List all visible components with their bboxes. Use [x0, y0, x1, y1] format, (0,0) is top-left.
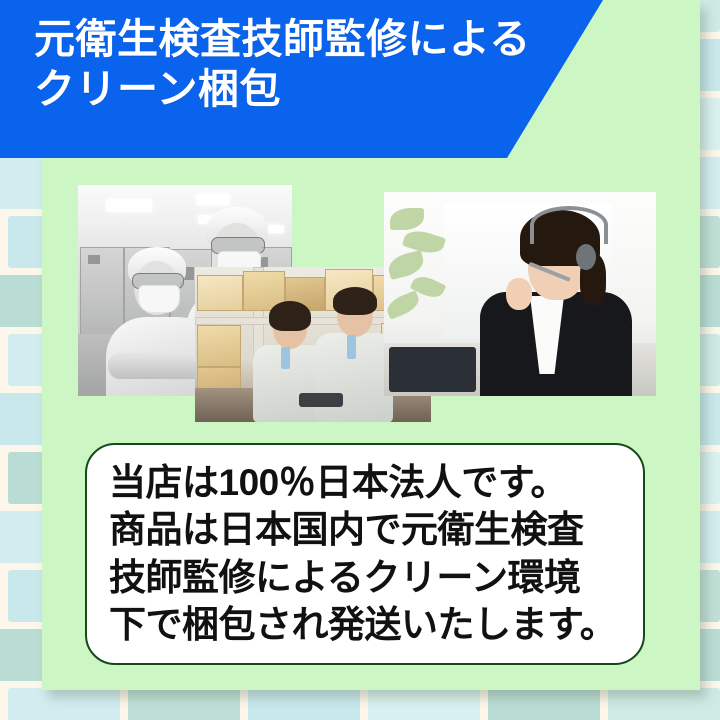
- plant-leaf: [384, 290, 422, 319]
- promotional-banner: 元衛生検査技師監修による クリーン梱包: [0, 0, 720, 720]
- background-tile: [128, 688, 240, 720]
- barcode-scanner: [299, 393, 343, 407]
- ceiling-light: [196, 194, 230, 205]
- statement-box: 当店は100％日本法人です。 商品は日本国内で元衛生検査 技師監修によるクリーン…: [85, 443, 645, 665]
- cabinet-display: [88, 255, 100, 264]
- page-title: 元衛生検査技師監修による クリーン梱包: [34, 14, 554, 114]
- background-tile: [488, 688, 600, 720]
- monitor: [389, 347, 476, 392]
- office-scene: [384, 192, 656, 396]
- plant-leaf: [386, 250, 426, 280]
- plant-leaf: [390, 208, 424, 230]
- background-tile: [248, 688, 360, 720]
- background-tile: [368, 688, 480, 720]
- carton: [197, 275, 243, 311]
- background-tile: [8, 688, 120, 720]
- customer-support-photo: [384, 192, 656, 396]
- background-tile: [608, 688, 720, 720]
- statement-text: 当店は100％日本法人です。 商品は日本国内で元衛生検査 技師監修によるクリーン…: [109, 459, 637, 648]
- ceiling-light: [106, 199, 152, 212]
- carton: [197, 325, 241, 367]
